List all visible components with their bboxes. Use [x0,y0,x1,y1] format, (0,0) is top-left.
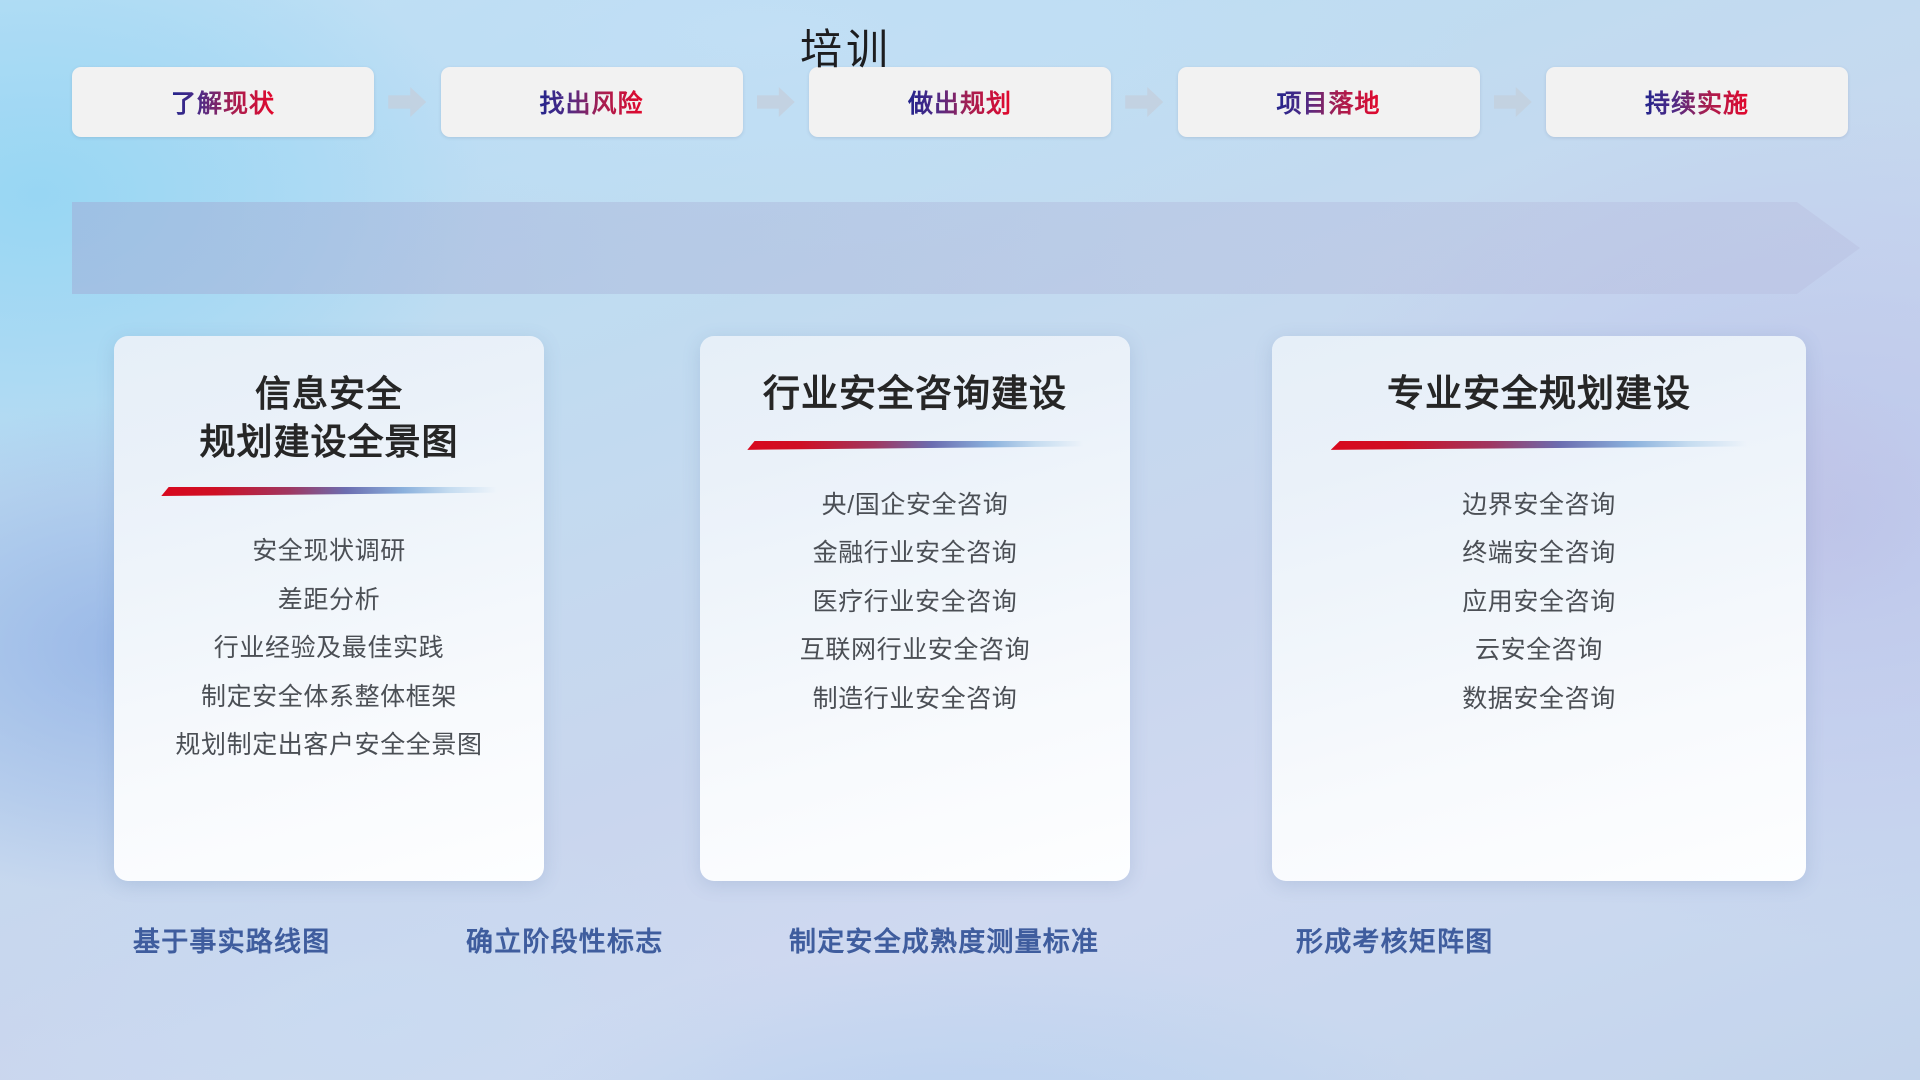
training-banner [72,202,1860,294]
list-item: 差距分析 [278,580,380,622]
caption-matrix: 形成考核矩阵图 [1296,920,1493,959]
card-divider [161,487,496,497]
card-title: 信息安全 规划建设全景图 [199,370,458,465]
list-item: 制造行业安全咨询 [813,679,1018,721]
list-item: 行业经验及最佳实践 [214,628,444,670]
card-list: 安全现状调研 差距分析 行业经验及最佳实践 制定安全体系整体框架 规划制定出客户… [175,531,482,767]
list-item: 应用安全咨询 [1462,582,1616,624]
list-item: 医疗行业安全咨询 [813,582,1018,624]
card-industry-security-consulting[interactable]: 行业安全咨询建设 央/国企安全咨询 金融行业安全咨询 医疗行业安全咨询 互联网行… [700,336,1130,881]
card-title: 专业安全规划建设 [1387,370,1691,419]
card-title-line: 专业安全规划建设 [1387,370,1691,419]
card-list: 边界安全咨询 终端安全咨询 应用安全咨询 云安全咨询 数据安全咨询 [1462,485,1616,721]
card-information-security-blueprint[interactable]: 信息安全 规划建设全景图 安全现状调研 差距分析 行业经验及最佳实践 制定安全体… [114,336,544,881]
card-divider [747,441,1082,451]
card-divider [1331,441,1748,451]
card-professional-security-planning[interactable]: 专业安全规划建设 边界安全咨询 终端安全咨询 应用安全咨询 云安全咨询 数据安全… [1272,336,1806,881]
training-banner-content: 培训 [0,0,1788,92]
card-title-line: 行业安全咨询建设 [763,370,1067,419]
card-title-line: 信息安全 [199,370,458,418]
caption-row: 基于事实路线图 确立阶段性标志 制定安全成熟度测量标准 形成考核矩阵图 [0,920,1920,980]
card-title-line: 规划建设全景图 [199,418,458,466]
list-item: 央/国企安全咨询 [822,485,1009,527]
card-row: 信息安全 规划建设全景图 安全现状调研 差距分析 行业经验及最佳实践 制定安全体… [0,336,1920,881]
training-banner-title: 培训 [800,16,892,77]
list-item: 规划制定出客户安全全景图 [175,725,482,767]
list-item: 金融行业安全咨询 [813,533,1018,575]
card-list: 央/国企安全咨询 金融行业安全咨询 医疗行业安全咨询 互联网行业安全咨询 制造行… [800,485,1030,721]
list-item: 数据安全咨询 [1462,679,1616,721]
caption-maturity: 制定安全成熟度测量标准 [789,920,1099,959]
list-item: 边界安全咨询 [1462,485,1616,527]
list-item: 云安全咨询 [1475,630,1603,672]
caption-roadmap: 基于事实路线图 [133,920,330,959]
caption-milestones: 确立阶段性标志 [466,920,663,959]
list-item: 互联网行业安全咨询 [800,630,1030,672]
list-item: 安全现状调研 [252,531,406,573]
list-item: 终端安全咨询 [1462,533,1616,575]
list-item: 制定安全体系整体框架 [201,677,457,719]
card-title: 行业安全咨询建设 [763,370,1067,419]
